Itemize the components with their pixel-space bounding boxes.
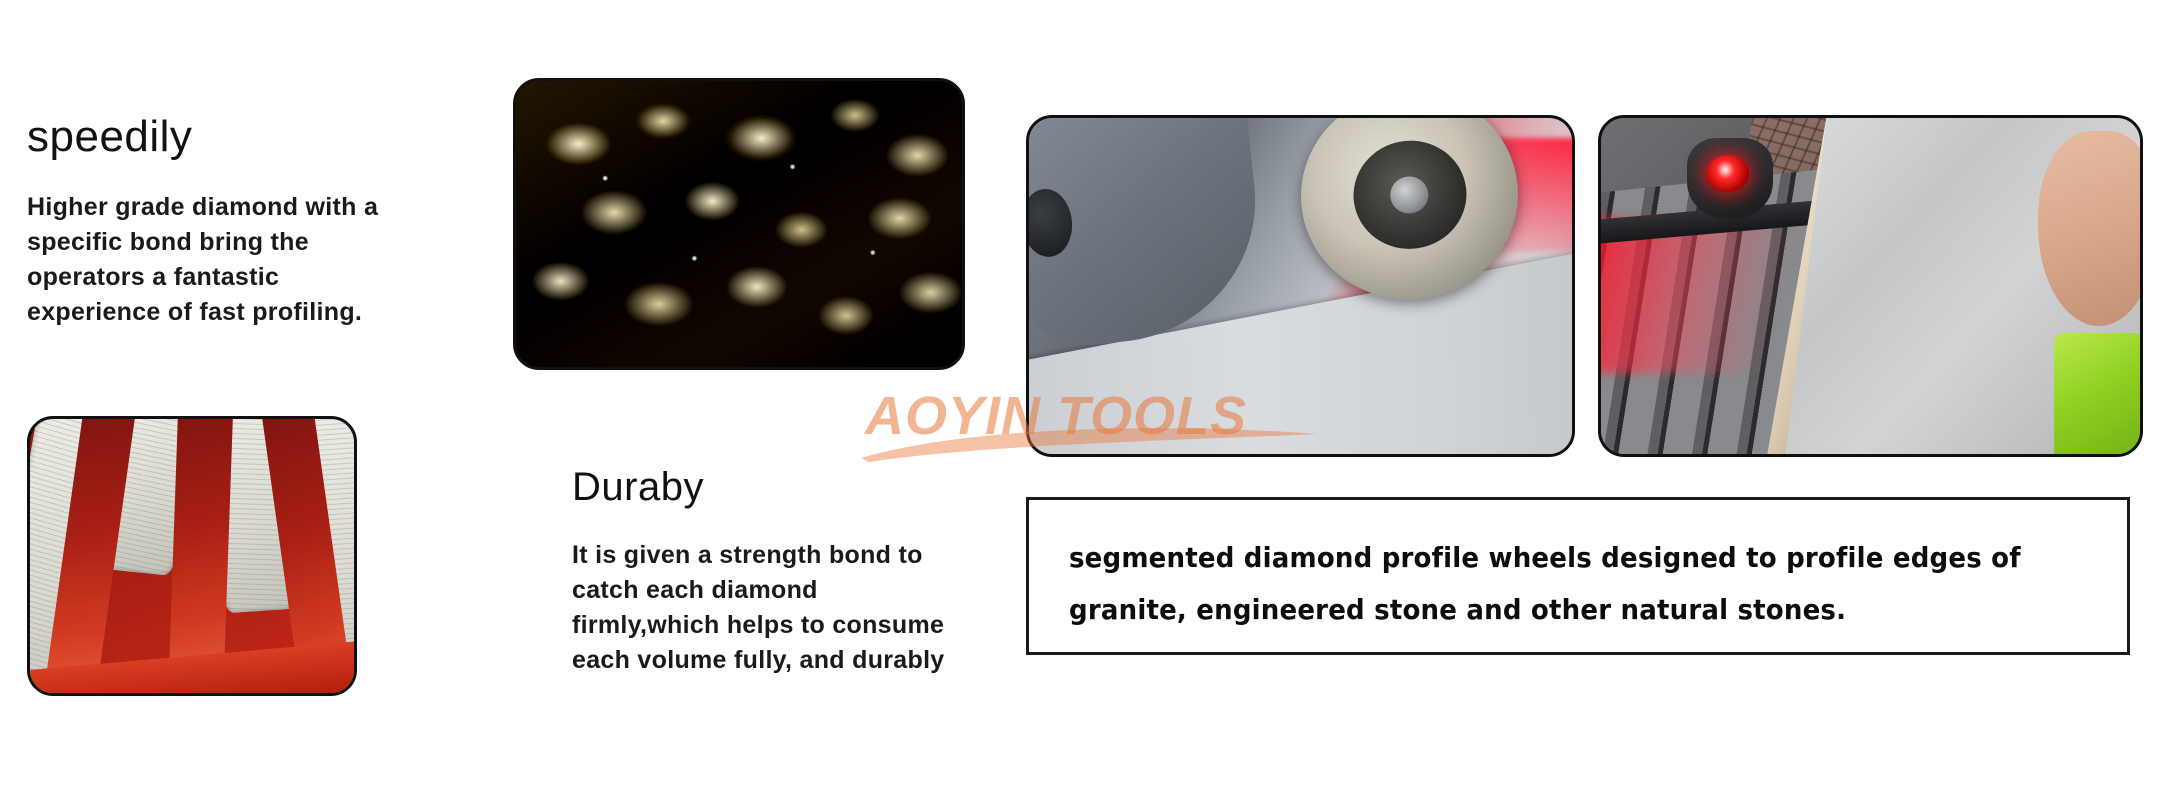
photo-diamond-grit — [513, 78, 965, 370]
speedily-body-line: experience of fast profiling. — [27, 295, 378, 330]
wheel-flange — [1346, 134, 1473, 257]
duraby-body-line: It is given a strength bond to — [572, 538, 945, 573]
product-caption-box: segmented diamond profile wheels designe… — [1026, 497, 2130, 655]
grinder-scene — [1029, 118, 1572, 454]
guard-hole — [1026, 187, 1076, 260]
caption-line: segmented diamond profile wheels designe… — [1069, 532, 2016, 584]
diamond-grit-texture — [516, 81, 962, 367]
speedily-body-line: operators a fantastic — [27, 260, 378, 295]
green-cloth — [2054, 333, 2143, 457]
photo-laser-machine — [1598, 115, 2143, 457]
photo-profile-wheel — [27, 416, 357, 696]
feature-banner: speedily Higher grade diamond with a spe… — [0, 0, 2175, 800]
duraby-body-line: each volume fully, and durably — [572, 643, 945, 678]
speedily-body-line: specific bond bring the — [27, 225, 378, 260]
duraby-body-line: firmly,which helps to consume — [572, 608, 945, 643]
blade-guard — [1026, 115, 1269, 352]
wheel-hub — [1388, 174, 1431, 216]
duraby-heading: Duraby — [572, 465, 704, 510]
profile-wheel-scene — [30, 419, 354, 693]
laser-led-icon — [1706, 155, 1749, 192]
caption-line: granite, engineered stone and other natu… — [1069, 584, 2016, 636]
photo-grinding-wheel — [1026, 115, 1575, 457]
speedily-body-line: Higher grade diamond with a — [27, 190, 378, 225]
speedily-body: Higher grade diamond with a specific bon… — [27, 190, 378, 330]
laser-beam — [1598, 219, 1817, 374]
duraby-body: It is given a strength bond to catch eac… — [572, 538, 945, 678]
duraby-body-line: catch each diamond — [572, 573, 945, 608]
speedily-heading: speedily — [27, 112, 192, 162]
laser-scene — [1601, 118, 2140, 454]
